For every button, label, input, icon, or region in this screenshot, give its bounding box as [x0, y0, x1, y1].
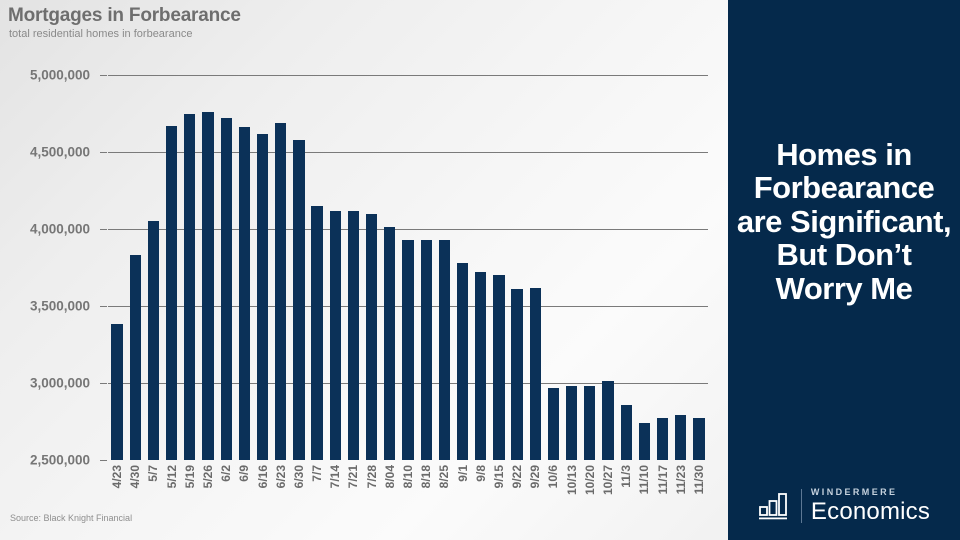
windermere-economics-logo: WINDERMERE Economics: [728, 478, 960, 533]
y-axis-tick: [100, 152, 107, 153]
y-axis-label: 4,500,000: [0, 145, 90, 160]
bar: [384, 227, 395, 460]
bar: [257, 134, 268, 460]
side-panel: Homes in Forbearance are Significant, Bu…: [728, 0, 960, 540]
bar: [639, 423, 650, 460]
bar-series: [108, 75, 708, 460]
logo-wordmark: WINDERMERE Economics: [811, 488, 930, 524]
x-axis-label: 6/2: [219, 465, 233, 482]
x-axis-label: 8/18: [419, 465, 433, 488]
x-axis-label: 10/27: [601, 465, 615, 495]
headline-text: Homes in Forbearance are Significant, Bu…: [734, 138, 954, 305]
bar: [130, 255, 141, 460]
bar: [111, 324, 122, 460]
x-axis-label: 10/20: [583, 465, 597, 495]
x-axis-label: 4/30: [128, 465, 142, 488]
bar: [584, 386, 595, 460]
bar: [566, 386, 577, 460]
y-axis-tick: [100, 75, 107, 76]
x-axis-label: 4/23: [110, 465, 124, 488]
y-axis-label: 4,000,000: [0, 222, 90, 237]
x-axis-label: 7/7: [310, 465, 324, 482]
logo-brand-windermere: WINDERMERE: [811, 488, 930, 497]
x-axis-label: 11/10: [637, 465, 651, 494]
bar: [148, 221, 159, 460]
x-axis-label: 6/30: [292, 465, 306, 488]
x-axis-label: 9/1: [456, 465, 470, 482]
bar: [184, 114, 195, 461]
bar: [511, 289, 522, 460]
x-axis-label: 9/29: [528, 465, 542, 488]
bar: [293, 140, 304, 460]
x-axis-label: 10/6: [546, 465, 560, 488]
bar: [166, 126, 177, 460]
y-axis-tick: [100, 306, 107, 307]
bar: [402, 240, 413, 460]
bar: [475, 272, 486, 460]
x-axis-label: 6/16: [256, 465, 270, 488]
x-axis-label: 8/10: [401, 465, 415, 488]
bar: [275, 123, 286, 460]
bar: [621, 405, 632, 460]
x-axis-label: 7/21: [346, 465, 360, 488]
y-axis-tick: [100, 460, 107, 461]
y-axis-label: 3,500,000: [0, 299, 90, 314]
bar: [348, 211, 359, 460]
bar: [548, 388, 559, 460]
bar: [439, 240, 450, 460]
x-axis-label: 9/22: [510, 465, 524, 488]
x-axis-label: 8/25: [437, 465, 451, 488]
x-axis-label: 6/9: [237, 465, 251, 482]
bar: [202, 112, 213, 460]
y-axis-tick: [100, 229, 107, 230]
chart-title: Mortgages in Forbearance: [8, 5, 241, 27]
chart-subtitle: total residential homes in forbearance: [9, 28, 192, 40]
x-axis-label: 5/26: [201, 465, 215, 488]
bar: [493, 275, 504, 460]
x-axis-label: 11/17: [656, 465, 670, 494]
y-axis-label: 5,000,000: [0, 68, 90, 83]
bar: [221, 118, 232, 460]
bar: [330, 211, 341, 460]
plot-area: 2,500,0003,000,0003,500,0004,000,0004,50…: [108, 75, 708, 460]
bar: [239, 127, 250, 460]
bar: [366, 214, 377, 460]
bar: [657, 418, 668, 460]
chart-panel: Mortgages in Forbearance total residenti…: [0, 0, 728, 540]
y-axis-tick: [100, 383, 107, 384]
bar: [693, 418, 704, 460]
bar: [530, 288, 541, 460]
x-axis-label: 9/8: [474, 465, 488, 482]
y-axis-label: 3,000,000: [0, 376, 90, 391]
bar: [602, 381, 613, 460]
bar-chart-icon: [758, 491, 792, 521]
x-axis-label: 9/15: [492, 465, 506, 488]
bar: [457, 263, 468, 460]
slide-canvas: Mortgages in Forbearance total residenti…: [0, 0, 960, 540]
x-axis-label: 10/13: [565, 465, 579, 495]
y-axis-label: 2,500,000: [0, 453, 90, 468]
x-axis-label: 5/19: [183, 465, 197, 488]
x-axis-label: 5/12: [165, 465, 179, 488]
x-axis-label: 7/14: [328, 465, 342, 488]
source-note: Source: Black Knight Financial: [10, 513, 132, 523]
bar: [421, 240, 432, 460]
x-axis-label: 6/23: [274, 465, 288, 488]
bar: [311, 206, 322, 460]
x-axis-label: 8/04: [383, 465, 397, 488]
x-axis-label: 11/3: [619, 465, 633, 488]
x-axis-label: 7/28: [365, 465, 379, 488]
x-axis-label: 11/23: [674, 465, 688, 494]
bar: [675, 415, 686, 460]
logo-brand-economics: Economics: [811, 500, 930, 524]
logo-divider: [801, 489, 802, 523]
x-axis-label: 5/7: [146, 465, 160, 482]
x-axis-label: 11/30: [692, 465, 706, 494]
